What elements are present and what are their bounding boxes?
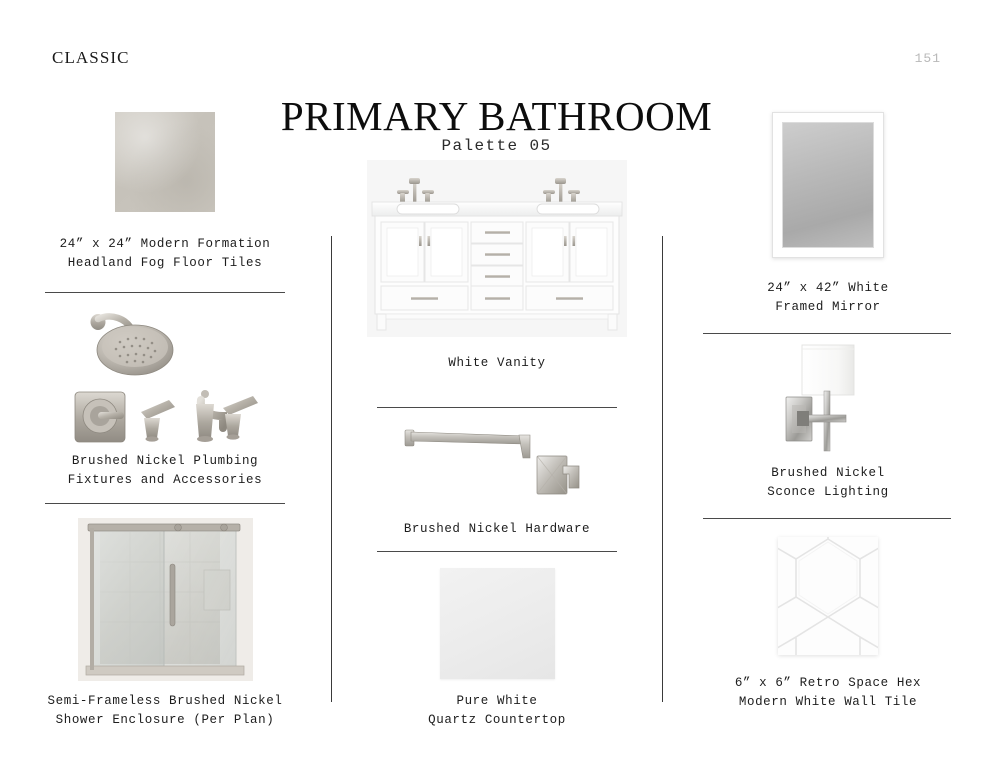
framed-mirror-photo-icon	[772, 112, 884, 258]
divider-left-1	[45, 292, 285, 293]
floor-tile-swatch-icon	[115, 112, 215, 212]
quartz-caption-line2: Quartz Countertop	[377, 711, 617, 730]
quartz-caption-line1: Pure White	[377, 692, 617, 711]
column-divider-left	[331, 236, 332, 702]
item-brushed-nickel-hardware[interactable]: Brushed Nickel Hardware	[377, 418, 617, 539]
item-shower-enclosure[interactable]: Semi-Frameless Brushed Nickel Shower Enc…	[45, 518, 285, 729]
item-hex-wall-tile[interactable]: 6” x 6” Retro Space Hex Modern White Wal…	[708, 537, 948, 711]
plumbing-fixtures-caption-line2: Fixtures and Accessories	[45, 471, 285, 490]
shower-enclosure-photo-icon	[78, 518, 253, 681]
hex-wall-tile-swatch-icon	[778, 537, 878, 655]
item-framed-mirror[interactable]: 24” x 42” White Framed Mirror	[708, 112, 948, 316]
item-quartz-countertop[interactable]: Pure White Quartz Countertop	[377, 568, 617, 729]
wall-sconce-photo-icon	[768, 341, 888, 453]
mirror-caption-line1: 24” x 42” White	[708, 279, 948, 298]
collection-title: CLASSIC	[52, 48, 130, 68]
divider-right-2	[703, 518, 951, 519]
plumbing-fixtures-caption-line1: Brushed Nickel Plumbing	[45, 452, 285, 471]
quartz-swatch-icon	[440, 568, 555, 679]
towel-bar-and-robe-hook-photo-icon	[397, 418, 597, 498]
item-floor-tile[interactable]: 24” x 24” Modern Formation Headland Fog …	[45, 112, 285, 272]
divider-right-1	[703, 333, 951, 334]
mirror-glass	[782, 122, 874, 248]
divider-center-1	[377, 407, 617, 408]
item-plumbing-fixtures[interactable]: Brushed Nickel Plumbing Fixtures and Acc…	[45, 304, 285, 489]
mirror-caption-line2: Framed Mirror	[708, 298, 948, 317]
page-number: 151	[915, 51, 941, 66]
divider-left-2	[45, 503, 285, 504]
divider-center-2	[377, 551, 617, 552]
item-sconce-lighting[interactable]: Brushed Nickel Sconce Lighting	[708, 341, 948, 501]
plumbing-fixtures-photo-icon	[65, 304, 265, 444]
shower-enclosure-caption-line2: Shower Enclosure (Per Plan)	[45, 711, 285, 730]
palette-board-page: CLASSIC 151 PRIMARY BATHROOM Palette 05 …	[0, 0, 993, 768]
floor-tile-caption-line1: 24” x 24” Modern Formation	[45, 235, 285, 254]
hex-tile-caption-line1: 6” x 6” Retro Space Hex	[708, 674, 948, 693]
column-divider-right	[662, 236, 663, 702]
item-white-vanity[interactable]: White Vanity	[367, 160, 627, 373]
white-vanity-photo-icon	[367, 160, 627, 337]
floor-tile-caption-line2: Headland Fog Floor Tiles	[45, 254, 285, 273]
sconce-caption-line2: Sconce Lighting	[708, 483, 948, 502]
shower-enclosure-caption-line1: Semi-Frameless Brushed Nickel	[45, 692, 285, 711]
hex-tile-caption-line2: Modern White Wall Tile	[708, 693, 948, 712]
sconce-caption-line1: Brushed Nickel	[708, 464, 948, 483]
hardware-caption-line1: Brushed Nickel Hardware	[377, 520, 617, 539]
white-vanity-caption-line1: White Vanity	[367, 354, 627, 373]
